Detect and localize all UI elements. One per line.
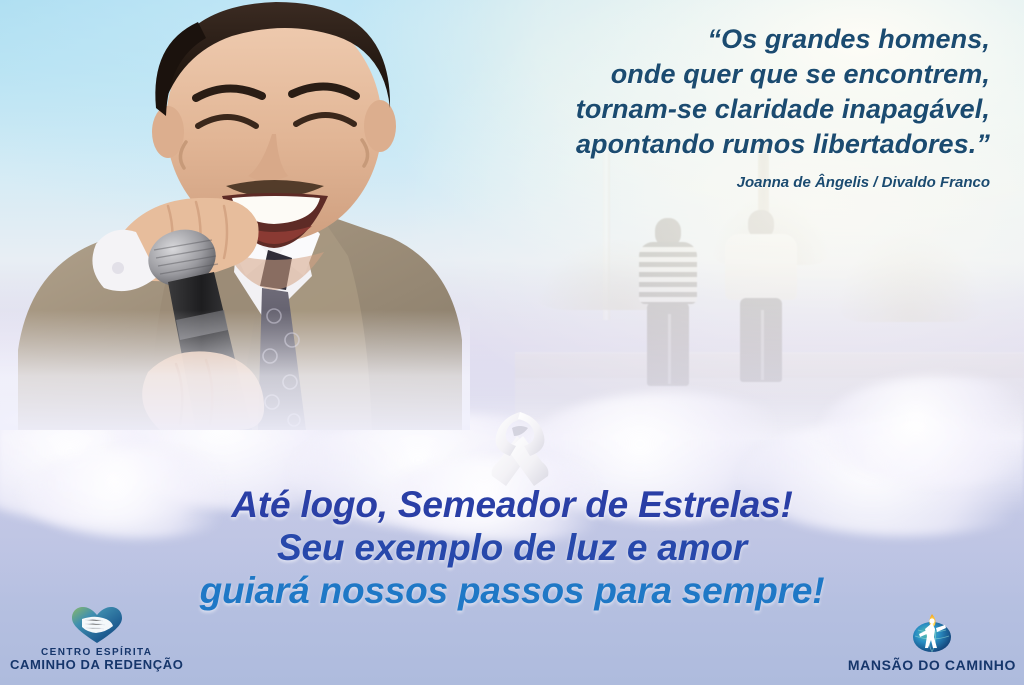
headline-block: Até logo, Semeador de Estrelas! Seu exem…	[0, 486, 1024, 609]
quote-line-3: tornam-se claridade inapagável,	[370, 92, 990, 127]
quote-author: Joanna de Ângelis / Divaldo Franco	[370, 174, 990, 191]
logo-right-text: MANSÃO DO CAMINHO	[848, 657, 1016, 673]
logo-right-line-1: MANSÃO DO CAMINHO	[848, 657, 1016, 673]
tribute-poster: “Os grandes homens, onde quer que se enc…	[0, 0, 1024, 685]
logo-left-line-2: CAMINHO DA REDENÇÃO	[10, 658, 183, 673]
logo-mansao-do-caminho[interactable]: MANSÃO DO CAMINHO	[848, 612, 1016, 673]
headline-line-3: guiará nossos passos para sempre!	[0, 572, 1024, 609]
headline-line-2: Seu exemplo de luz e amor	[0, 529, 1024, 566]
logo-centro-espirita-caminho-da-redencao[interactable]: CENTRO ESPÍRITA CAMINHO DA REDENÇÃO	[10, 606, 183, 673]
quote-line-2: onde quer que se encontrem,	[370, 57, 990, 92]
quote-block: “Os grandes homens, onde quer que se enc…	[370, 22, 990, 191]
heart-hands-icon	[70, 606, 124, 644]
quote-line-1: “Os grandes homens,	[370, 22, 990, 57]
quote-line-4: apontando rumos libertadores.”	[370, 127, 990, 162]
logo-left-text: CENTRO ESPÍRITA CAMINHO DA REDENÇÃO	[10, 647, 183, 673]
headline-line-1: Até logo, Semeador de Estrelas!	[0, 486, 1024, 523]
white-mourning-ribbon-icon	[480, 406, 558, 488]
globe-figure-flame-icon	[910, 612, 954, 654]
